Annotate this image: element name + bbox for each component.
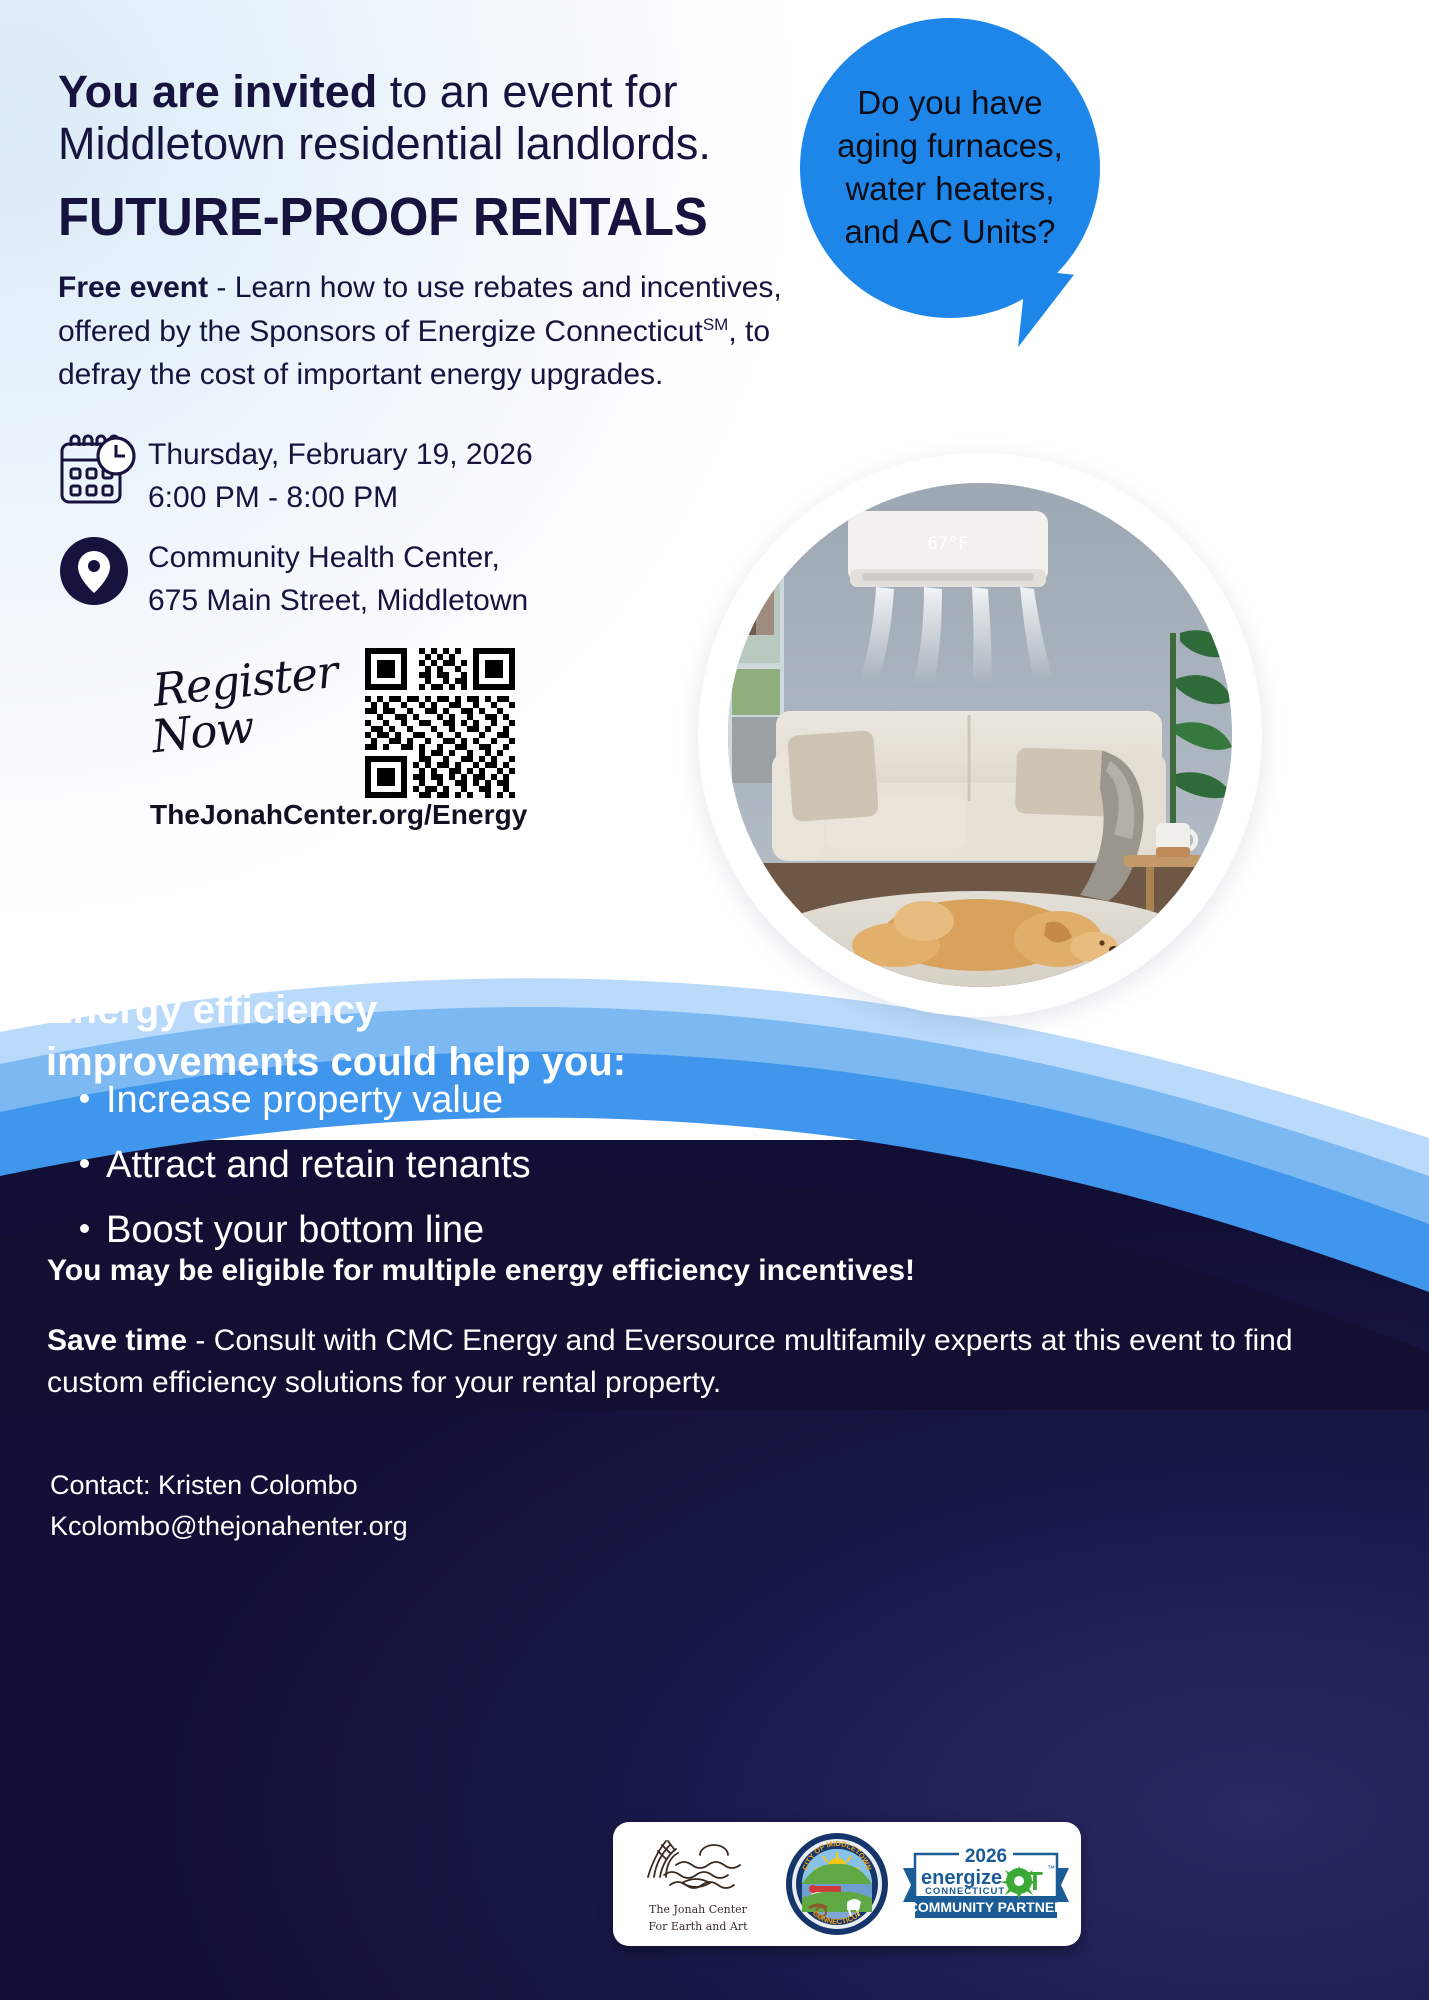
jonah-center-name: The Jonah Center For Earth and Art [623,1902,773,1935]
contact-block: Contact: Kristen Colombo Kcolombo@thejon… [50,1465,650,1547]
save-time-callout: Save time - Consult with CMC Energy and … [47,1320,1367,1404]
event-date-line1: Thursday, February 19, 2026 [148,434,533,477]
save-time-bold: Save time [47,1324,187,1357]
subhead-bold: Free event [58,271,208,304]
jonah-marsh-icon [636,1833,760,1895]
invite-bold: You are invited [58,66,377,117]
registration-url[interactable]: TheJonahCenter.org/Energy [150,799,670,831]
subhead-paragraph: Free event - Learn how to use rebates an… [58,266,828,397]
map-pin-icon [58,535,148,607]
poster-canvas: Do you have aging furnaces, water heater… [0,0,1429,2000]
event-location-line1: Community Health Center, [148,537,528,580]
photo-clip-circle: 67°F [728,483,1232,987]
save-time-rest: - Consult with CMC Energy and Eversource… [47,1324,1293,1399]
benefits-heading-line1: Energy efficiency [46,984,746,1036]
headline-block: You are invited to an event for Middleto… [58,66,798,397]
energize-ct-community-partner-badge: COMMUNITY PARTNER 2026 energize CONNECTI… [901,1838,1071,1930]
ect-tm-text: ™ [1047,1864,1055,1873]
service-mark: SM [703,315,729,334]
qr-code-icon[interactable] [365,648,515,798]
jonah-line2: For Earth and Art [623,1919,773,1936]
speech-bubble: Do you have aging furnaces, water heater… [800,18,1100,318]
event-date-row: Thursday, February 19, 2026 6:00 PM - 8:… [58,432,533,519]
speech-bubble-text: Do you have aging furnaces, water heater… [800,82,1100,254]
benefits-list: Increase property value Attract and reta… [60,1074,866,1270]
calendar-clock-icon [58,432,148,508]
benefits-heading: Energy efficiency improvements could hel… [46,984,746,1088]
contact-name: Contact: Kristen Colombo [50,1465,650,1506]
sponsor-logo-bar: The Jonah Center For Earth and Art [613,1822,1081,1946]
list-item: Increase property value [106,1074,866,1127]
invite-line: You are invited to an event for Middleto… [58,66,798,170]
ac-temperature-readout: 67°F [928,534,969,554]
ect-state-text: CONNECTICUT [925,1886,1005,1897]
event-location-text: Community Health Center, 675 Main Street… [148,535,528,622]
list-item: Attract and retain tenants [106,1139,866,1192]
event-date-text: Thursday, February 19, 2026 6:00 PM - 8:… [148,432,533,519]
eligibility-callout: You may be eligible for multiple energy … [47,1250,1347,1292]
page-title: FUTURE-PROOF RENTALS [58,186,754,248]
living-room-illustration: 67°F [728,483,1232,987]
event-date-line2: 6:00 PM - 8:00 PM [148,477,533,520]
ect-banner-text: COMMUNITY PARTNER [908,1899,1065,1915]
jonah-center-logo: The Jonah Center For Earth and Art [623,1833,773,1935]
event-location-line2: 675 Main Street, Middletown [148,580,528,623]
ect-year-text: 2026 [965,1846,1007,1867]
event-location-row: Community Health Center, 675 Main Street… [58,535,528,622]
jonah-line1: The Jonah Center [623,1902,773,1919]
hero-photo: 67°F [700,455,1260,1015]
contact-email[interactable]: Kcolombo@thejonahenter.org [50,1506,650,1547]
ect-ct-text: T [1027,1866,1043,1896]
city-of-middletown-seal: CITY OF MIDDLETOWN CONNECTICUT [785,1832,889,1936]
register-now-script: Register Now [151,648,350,759]
